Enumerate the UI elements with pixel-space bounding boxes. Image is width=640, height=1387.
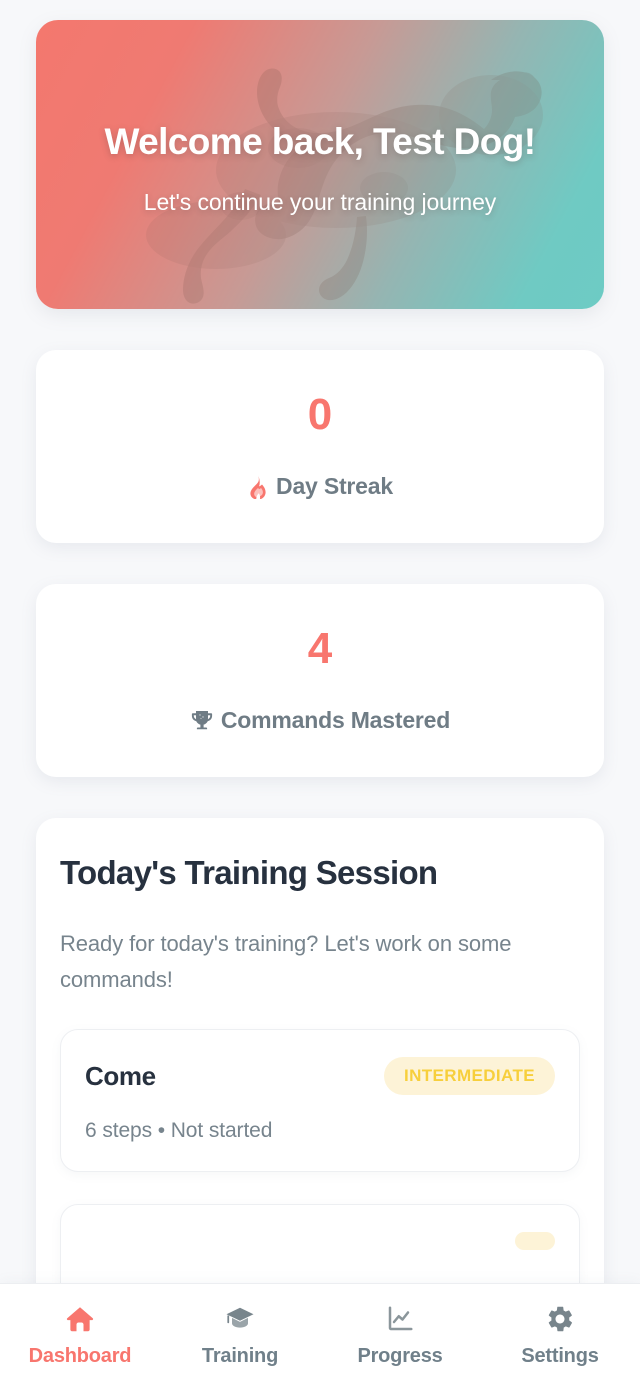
graduation-cap-icon (225, 1304, 255, 1334)
stat-card-day-streak: 0 Day Streak (36, 350, 604, 543)
command-card-come[interactable]: Come INTERMEDIATE 6 steps • Not started (60, 1029, 580, 1172)
welcome-hero-banner: Welcome back, Test Dog! Let's continue y… (36, 20, 604, 309)
nav-label-settings: Settings (521, 1345, 598, 1368)
gear-icon (545, 1304, 575, 1334)
day-streak-value: 0 (308, 393, 332, 437)
command-card-next[interactable] (60, 1204, 580, 1283)
nav-label-training: Training (202, 1345, 278, 1368)
todays-training-session-card: Today's Training Session Ready for today… (36, 818, 604, 1283)
nav-item-dashboard[interactable]: Dashboard (0, 1304, 160, 1368)
command-meta: 6 steps • Not started (85, 1119, 555, 1143)
commands-mastered-value: 4 (308, 627, 332, 671)
session-title: Today's Training Session (60, 854, 580, 892)
stat-card-commands-mastered: 4 Commands Mastered (36, 584, 604, 777)
bottom-navigation-bar: Dashboard Training Progress (0, 1283, 640, 1387)
dashboard-scroll-area[interactable]: Welcome back, Test Dog! Let's continue y… (0, 0, 640, 1283)
day-streak-label-row: Day Streak (247, 473, 393, 500)
hero-title: Welcome back, Test Dog! (105, 121, 536, 163)
difficulty-badge (515, 1232, 555, 1250)
nav-item-settings[interactable]: Settings (480, 1304, 640, 1368)
home-icon (65, 1304, 95, 1334)
hero-subtitle: Let's continue your training journey (144, 189, 496, 216)
nav-item-training[interactable]: Training (160, 1304, 320, 1368)
app-screen: Welcome back, Test Dog! Let's continue y… (0, 0, 640, 1387)
command-name: Come (85, 1061, 156, 1092)
nav-label-dashboard: Dashboard (29, 1345, 132, 1368)
nav-item-progress[interactable]: Progress (320, 1304, 480, 1368)
line-chart-icon (385, 1304, 415, 1334)
trophy-icon (190, 709, 214, 733)
day-streak-label: Day Streak (276, 473, 393, 500)
command-header-row (85, 1232, 555, 1250)
command-header-row: Come INTERMEDIATE (85, 1057, 555, 1095)
commands-mastered-label: Commands Mastered (221, 707, 450, 734)
flame-icon (247, 475, 269, 499)
session-description: Ready for today's training? Let's work o… (60, 926, 580, 997)
dog-photo-background (36, 20, 604, 309)
difficulty-badge: INTERMEDIATE (384, 1057, 555, 1095)
commands-mastered-label-row: Commands Mastered (190, 707, 450, 734)
nav-label-progress: Progress (357, 1345, 442, 1368)
